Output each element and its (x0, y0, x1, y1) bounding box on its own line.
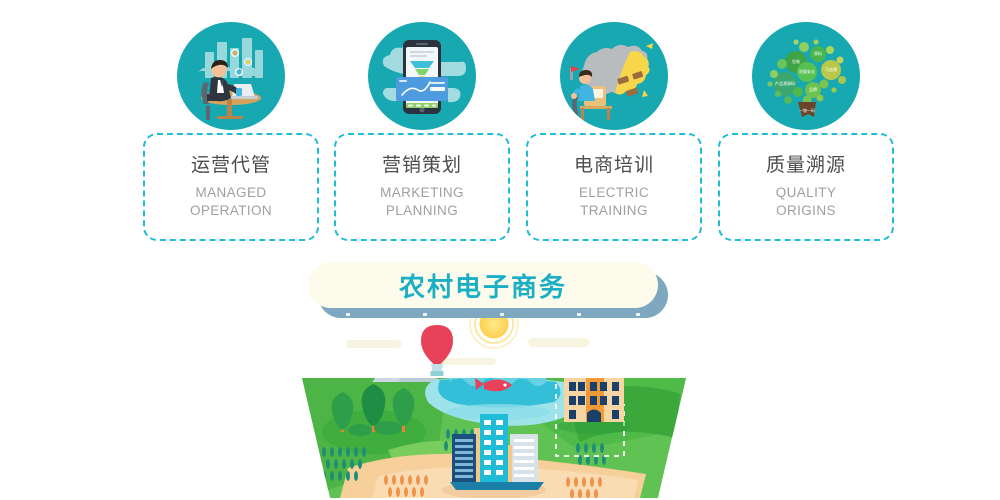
cloud-icon (346, 338, 590, 365)
svg-text:可追溯: 可追溯 (825, 66, 837, 72)
feature-card-title-cn: 电商培训 (574, 154, 654, 178)
feature-card-subtitle-en: MANAGEDOPERATION (190, 184, 272, 220)
hot-air-balloon-icon (421, 325, 453, 376)
feature-card-subtitle-en: QUALITYORIGINS (776, 184, 837, 220)
main-banner: 农村电子商务 (308, 262, 668, 318)
banner-title: 农村电子商务 (399, 267, 567, 304)
feature-icon-circle-quality-origins: 包装 原料 质量安全 可追溯 产品溯源码 品牌 一物一码 (752, 22, 860, 130)
feature-card-title-cn: 营销策划 (382, 154, 462, 178)
svg-text:质量安全: 质量安全 (799, 68, 815, 74)
hospital-building-icon: H (558, 350, 630, 434)
land-mass: H (302, 350, 686, 499)
feature-card-subtitle-en: ELECTRICTRAINING (579, 184, 649, 220)
feature-card-quality-origins[interactable]: 质量溯源 QUALITYORIGINS (718, 133, 894, 241)
svg-text:原料: 原料 (814, 50, 822, 56)
svg-text:一物一码: 一物一码 (799, 107, 815, 113)
svg-text:包装: 包装 (792, 58, 800, 64)
feature-card-marketing-planning[interactable]: 营销策划 MARKETINGPLANNING (334, 133, 510, 241)
feature-card-title-cn: 质量溯源 (766, 154, 846, 178)
feature-card-title-cn: 运营代管 (191, 154, 271, 178)
banner-body: 农村电子商务 (308, 262, 658, 308)
svg-text:产品溯源码: 产品溯源码 (775, 80, 795, 86)
feature-icon-circle-managed-operation (177, 22, 285, 130)
feature-card-managed-operation[interactable]: 运营代管 MANAGEDOPERATION (143, 133, 319, 241)
businessman-at-desk-icon (177, 22, 285, 130)
bubble-tree-traceability-icon: 包装 原料 质量安全 可追溯 产品溯源码 品牌 一物一码 (752, 22, 860, 130)
svg-text:品牌: 品牌 (809, 86, 817, 92)
feature-card-electric-training[interactable]: 电商培训 ELECTRICTRAINING (526, 133, 702, 241)
infographic-root: 包装 原料 质量安全 可追溯 产品溯源码 品牌 一物一码 运营代管 MANAGE… (0, 0, 1000, 500)
feature-icon-circle-electric-training (560, 22, 668, 130)
rural-landscape-illustration: H (288, 300, 700, 500)
svg-text:H: H (590, 352, 598, 364)
china-map-training-icon (560, 22, 668, 130)
feature-icon-circle-marketing-planning (368, 22, 476, 130)
feature-card-subtitle-en: MARKETINGPLANNING (380, 184, 464, 220)
mobile-analytics-icon (368, 22, 476, 130)
